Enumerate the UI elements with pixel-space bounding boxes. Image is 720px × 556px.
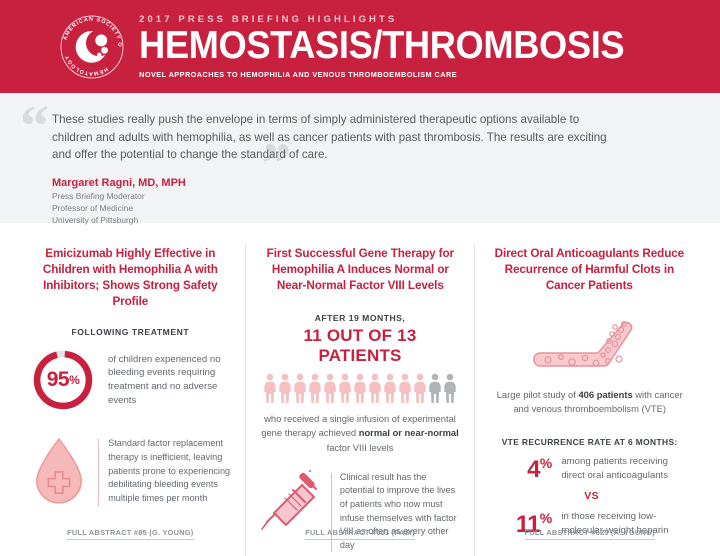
person-icon (293, 373, 307, 403)
page-title: HEMOSTASIS/THROMBOSIS (139, 27, 624, 65)
person-icon (338, 373, 352, 403)
abstract-link-603[interactable]: FULL ABSTRACT #603 (PASI) (305, 528, 415, 540)
column-title: Direct Oral Anticoagulants Reduce Recurr… (493, 245, 686, 293)
quote-author-role-3: University of Pittsburgh (52, 215, 690, 227)
quote-author-role-1: Press Briefing Moderator (52, 191, 690, 203)
quote-band: “ ” These studies really push the envelo… (0, 93, 720, 223)
highlight-column-gene-therapy: First Successful Gene Therapy for Hemoph… (245, 245, 475, 556)
gene-therapy-caption: who received a single infusion of experi… (260, 412, 461, 454)
person-icon (398, 373, 412, 403)
svg-text:AMERICAN SOCIETY OF: AMERICAN SOCIETY OF (59, 12, 123, 48)
highlights-columns: Emicizumab Highly Effective in Children … (0, 223, 720, 556)
footer-cell-1: FULL ABSTRACT #85 (G. YOUNG) (16, 528, 245, 540)
donut-value: 95% (30, 347, 96, 413)
caption-post: factor VIII levels (327, 442, 394, 453)
footer-cell-2: FULL ABSTRACT #603 (PASI) (245, 528, 475, 540)
donut-description: of children experienced no bleeding even… (108, 353, 231, 409)
people-pictogram (263, 373, 457, 403)
person-icon (323, 373, 337, 403)
blood-vessel-clot-icon (530, 317, 650, 379)
person-icon (263, 373, 277, 403)
footer-cell-3: FULL ABSTRACT #625 (A. YOUNG) (474, 528, 704, 540)
highlight-column-emicizumab: Emicizumab Highly Effective in Children … (16, 245, 245, 556)
quote-author-role-2: Professor of Medicine (52, 203, 690, 215)
person-icon (353, 373, 367, 403)
study-pre: Large pilot study of (497, 389, 579, 400)
caption-bold: normal or near-normal (359, 427, 459, 438)
quote-open-icon: “ (20, 97, 49, 155)
highlight-column-anticoagulants: Direct Oral Anticoagulants Reduce Recurr… (474, 245, 704, 556)
footer-abstract-links: FULL ABSTRACT #85 (G. YOUNG) FULL ABSTRA… (16, 528, 704, 540)
donut-chart-95-percent: 95% (30, 347, 96, 413)
rate-text-doac: among patients receiving direct oral ant… (561, 455, 690, 483)
person-icon (368, 373, 382, 403)
person-icon (383, 373, 397, 403)
abstract-link-625[interactable]: FULL ABSTRACT #625 (A. YOUNG) (525, 528, 655, 540)
person-icon (278, 373, 292, 403)
quote-attribution: Margaret Ragni, MD, MPH Press Briefing M… (52, 177, 690, 227)
person-icon (413, 373, 427, 403)
patients-stat: 11 OUT OF 13 PATIENTS (260, 326, 461, 366)
person-icon (308, 373, 322, 403)
abstract-link-85[interactable]: FULL ABSTRACT #85 (G. YOUNG) (67, 528, 193, 540)
rate-value-doac: 4% (501, 455, 551, 484)
person-icon (443, 373, 457, 403)
vte-rate-label: VTE RECURRENCE RATE AT 6 MONTHS: (502, 437, 678, 447)
blood-drop-icon (30, 435, 88, 505)
infographic-page: AMERICAN SOCIETY OF HEMATOLOGY 2017 PRES… (0, 0, 720, 556)
person-icon (428, 373, 442, 403)
quote-text: These studies really push the envelope i… (52, 111, 622, 164)
study-bold: 406 patients (578, 389, 632, 400)
rate-row-doac: 4% among patients receiving direct oral … (489, 455, 690, 484)
column-title: First Successful Gene Therapy for Hemoph… (264, 245, 457, 293)
header-subtitle: NOVEL APPROACHES TO HEMOPHILIA AND VENOU… (139, 70, 457, 79)
after-months-label: AFTER 19 MONTHS, (315, 313, 406, 323)
column-title: Emicizumab Highly Effective in Children … (34, 245, 227, 309)
quote-author-name: Margaret Ragni, MD, MPH (52, 177, 690, 189)
ash-logo-icon: AMERICAN SOCIETY OF HEMATOLOGY (59, 12, 125, 82)
vs-label: VS (489, 490, 690, 502)
section-label-following-treatment: FOLLOWING TREATMENT (71, 327, 189, 337)
study-description: Large pilot study of 406 patients with c… (489, 388, 690, 416)
column-note: Standard factor replacement therapy is i… (108, 435, 230, 505)
page-header: AMERICAN SOCIETY OF HEMATOLOGY 2017 PRES… (0, 0, 720, 93)
